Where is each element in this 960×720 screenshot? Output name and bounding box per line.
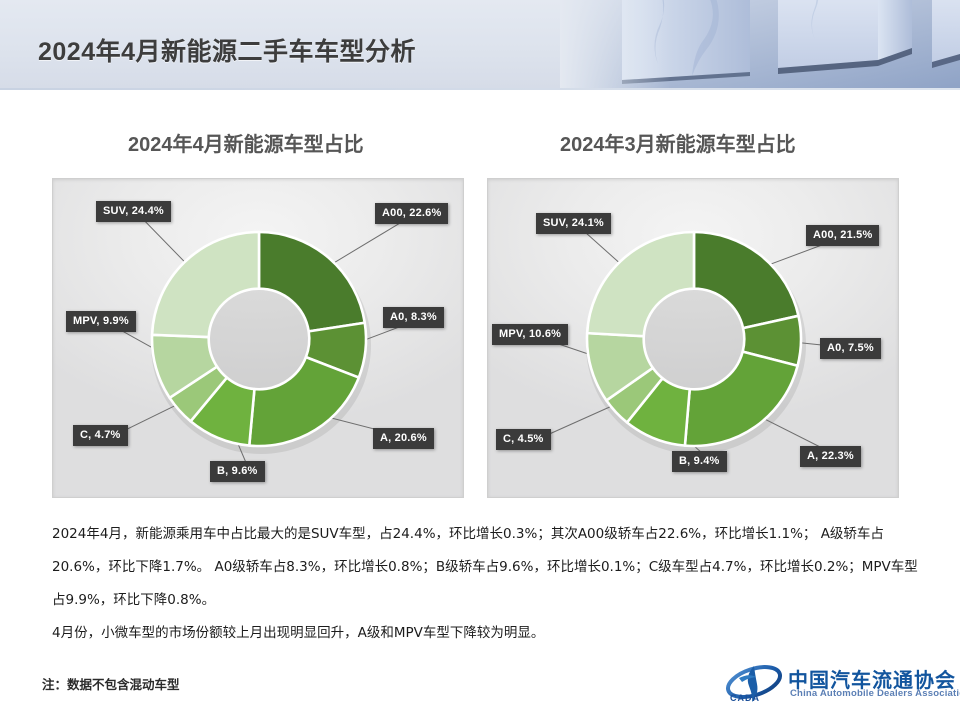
data-label-suv: SUV, 24.1% <box>536 213 611 234</box>
data-label-a: A, 22.3% <box>800 446 861 467</box>
data-label-c: C, 4.7% <box>73 425 128 446</box>
data-label-mpv: MPV, 9.9% <box>66 311 136 332</box>
chart-title-march: 2024年3月新能源车型占比 <box>560 128 796 157</box>
header-divider <box>0 88 960 90</box>
data-label-a: A, 20.6% <box>373 428 434 449</box>
chart-title-april: 2024年4月新能源车型占比 <box>128 128 364 157</box>
logo-name-en: China Automobile Dealers Association <box>790 688 960 699</box>
data-label-suv: SUV, 24.4% <box>96 201 171 222</box>
logo-abbr: CADA <box>730 693 760 703</box>
analysis-text: 2024年4月，新能源乘用车中占比最大的是SUV车型，占24.4%，环比增长0.… <box>52 518 920 650</box>
donut-svg-april <box>53 179 465 499</box>
cada-logo: 中国汽车流通协会 China Automobile Dealers Associ… <box>722 662 934 710</box>
analysis-paragraph-1: 2024年4月，新能源乘用车中占比最大的是SUV车型，占24.4%，环比增长0.… <box>52 518 920 617</box>
donut-chart-april[interactable]: A00, 22.6%A0, 8.3%A, 20.6%B, 9.6%C, 4.7%… <box>52 178 464 498</box>
data-label-b: B, 9.6% <box>210 461 265 482</box>
header-decoration-cubes <box>560 0 960 88</box>
data-label-a00: A00, 21.5% <box>806 225 879 246</box>
donut-chart-march[interactable]: A00, 21.5%A0, 7.5%A, 22.3%B, 9.4%C, 4.5%… <box>487 178 899 498</box>
data-label-a0: A0, 8.3% <box>383 307 444 328</box>
data-label-mpv: MPV, 10.6% <box>492 324 568 345</box>
header-band: 2024年4月新能源二手车车型分析 <box>0 0 960 88</box>
data-label-b: B, 9.4% <box>672 451 727 472</box>
world-map-cubes-icon <box>560 0 960 88</box>
data-label-a00: A00, 22.6% <box>375 203 448 224</box>
page-title: 2024年4月新能源二手车车型分析 <box>38 32 416 68</box>
analysis-paragraph-2: 4月份，小微车型的市场份额较上月出现明显回升，A级和MPV车型下降较为明显。 <box>52 617 920 650</box>
footnote: 注：数据不包含混动车型 <box>42 674 180 693</box>
data-label-c: C, 4.5% <box>496 429 551 450</box>
data-label-a0: A0, 7.5% <box>820 338 881 359</box>
